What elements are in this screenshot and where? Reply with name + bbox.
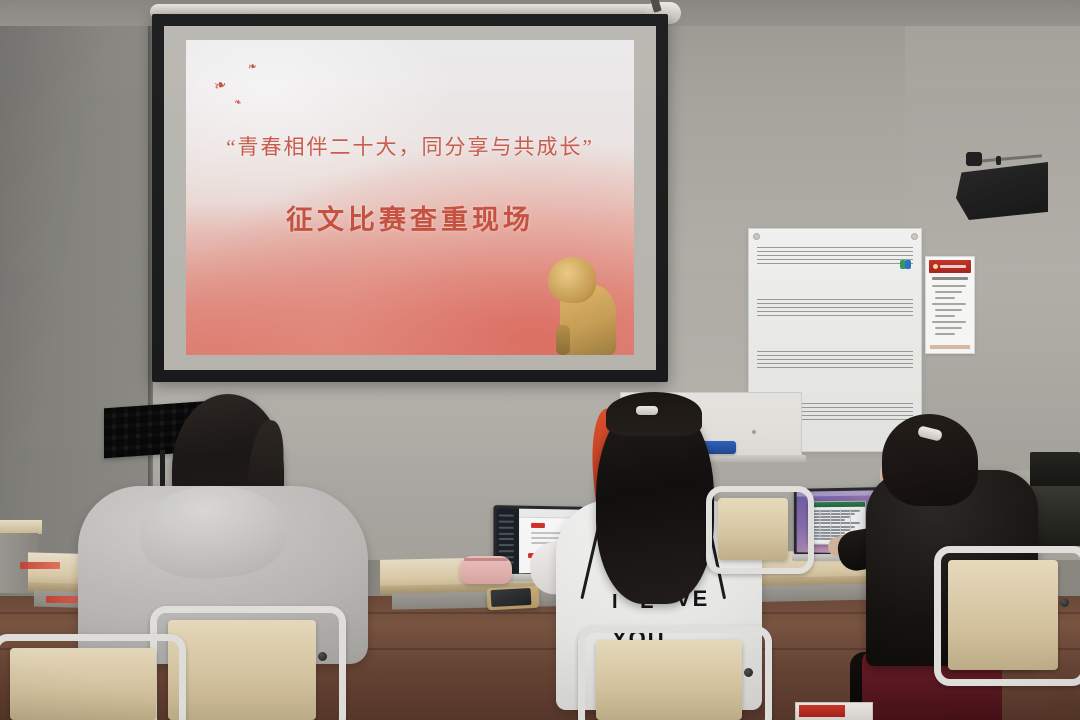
stave-group: [757, 351, 913, 373]
poster-logo-icon: [933, 264, 938, 269]
stave-line: [757, 355, 913, 356]
board-screw: [753, 233, 760, 240]
spreadsheet-column-divider: [820, 510, 821, 539]
poster-header: [929, 260, 971, 273]
slide-glare: [186, 40, 455, 204]
poster-body-line: [935, 315, 955, 317]
stave-line: [757, 263, 913, 264]
stave-line: [757, 367, 913, 368]
board-dot: [752, 430, 756, 434]
slide-subtitle: 征文比赛查重现场: [186, 198, 634, 237]
stave-line: [757, 255, 913, 256]
spreadsheet-row[interactable]: [811, 525, 855, 527]
spreadsheet-row[interactable]: [811, 510, 860, 512]
poster-body-line: [935, 327, 962, 329]
sidebar-row[interactable]: [498, 538, 514, 540]
desk-label-red-1: [20, 562, 60, 569]
hair-clip-icon: [636, 406, 658, 415]
poster-header-text: [940, 265, 966, 268]
slide-title-quote: “青春相伴二十大，同分享与共成长”: [186, 131, 634, 161]
sidebar-row[interactable]: [498, 515, 514, 517]
screen-surface: ❧ ❧ ❧ “青春相伴二十大，同分享与共成长” 征文比赛查重现场: [164, 26, 656, 370]
spreadsheet-column-divider: [840, 509, 841, 539]
stave-line: [757, 299, 913, 300]
poster-body-line: [932, 285, 966, 287]
spreadsheet-titlebar: [809, 502, 865, 508]
classroom-photo: ❧ ❧ ❧ “青春相伴二十大，同分享与共成长” 征文比赛查重现场: [0, 0, 1080, 720]
guardian-lion-icon: [542, 247, 628, 355]
poster-footer: [930, 345, 970, 349]
speaker-mount: [966, 152, 982, 166]
poster-body-line: [935, 309, 962, 311]
stave-line: [757, 251, 913, 252]
blue-magnet-icon: [905, 260, 911, 269]
stave-line: [757, 351, 913, 352]
poster-body-line: [932, 303, 966, 305]
spreadsheet-row[interactable]: [811, 513, 855, 515]
red-card-strip: [799, 705, 845, 717]
presentation-slide: ❧ ❧ ❧ “青春相伴二十大，同分享与共成长” 征文比赛查重现场: [186, 40, 634, 355]
stave-line: [757, 315, 913, 316]
pouch-zipper: [464, 558, 508, 561]
stave-line: [757, 359, 913, 360]
poster-body-line: [935, 291, 962, 293]
sidebar-row[interactable]: [498, 544, 514, 546]
page-red-badge: [531, 523, 545, 528]
sidebar-row[interactable]: [498, 521, 514, 523]
spreadsheet-column-divider: [830, 510, 831, 539]
stave-line: [757, 259, 913, 260]
stave-line: [757, 247, 913, 248]
stave-group: [757, 299, 913, 321]
speaker-bolt: [996, 156, 1001, 165]
desk-far-left-top: [0, 520, 42, 534]
poster-body-line: [935, 333, 955, 335]
stave-line: [757, 311, 913, 312]
smartphone-screen[interactable]: [491, 588, 532, 607]
wall-notice-poster: [925, 256, 975, 354]
stave-line: [757, 363, 913, 364]
stave-line: [757, 307, 913, 308]
projection-screen: ❧ ❧ ❧ “青春相伴二十大，同分享与共成长” 征文比赛查重现场: [152, 14, 668, 382]
piano-equipment: [1030, 452, 1080, 488]
sidebar-row[interactable]: [498, 550, 514, 552]
poster-body-line: [932, 321, 966, 323]
shirt-letter: I: [612, 592, 620, 612]
poster-title-bar: [932, 277, 968, 280]
spreadsheet-row[interactable]: [811, 522, 860, 524]
stave-line: [757, 303, 913, 304]
poster-body-line: [935, 297, 955, 299]
stave-group: [757, 247, 913, 269]
bird-icon: ❧: [247, 61, 258, 73]
right-wall-panel: [905, 0, 1080, 470]
board-screw: [911, 233, 918, 240]
sidebar-row[interactable]: [498, 532, 514, 534]
sidebar-row[interactable]: [498, 527, 514, 529]
